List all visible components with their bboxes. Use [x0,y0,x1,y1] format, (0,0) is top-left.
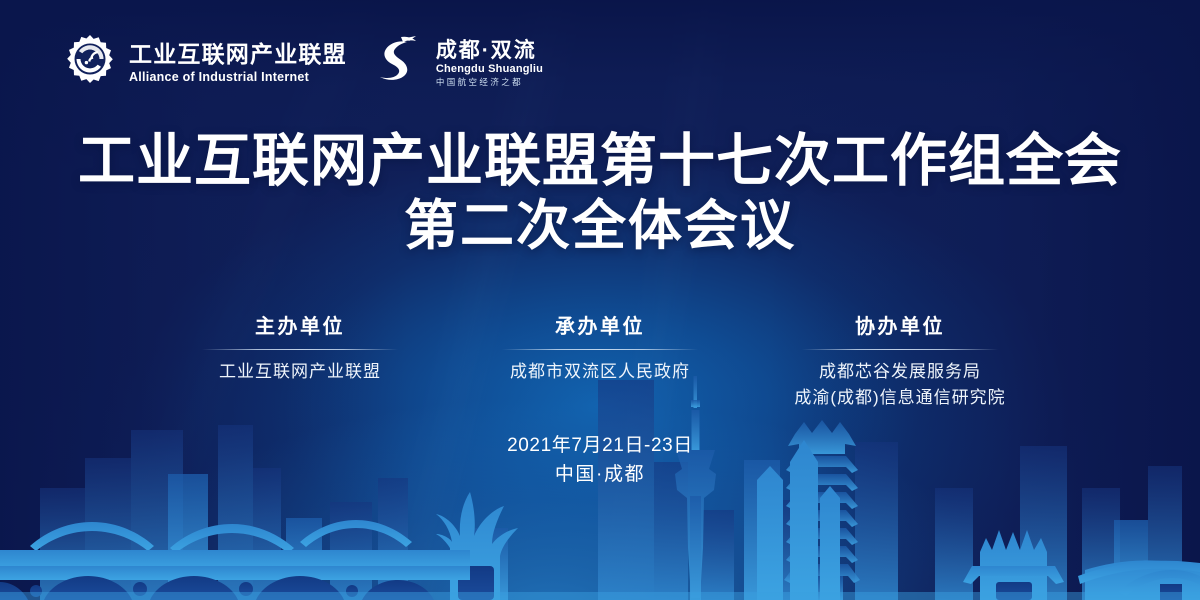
organizer-coorganizer-divider [502,349,698,350]
title-line-2: 第二次全体会议 [0,195,1200,259]
chengdu-shuangliu-logo-text: 成都·双流 Chengdu Shuangliu 中国航空经济之都 [436,39,543,88]
organizer-host-name-1: 工业互联网产业联盟 [158,359,442,385]
event-details: 2021年7月21日-23日 中国·成都 [0,432,1200,489]
organizer-supporter-name-1: 成都芯谷发展服务局 [758,359,1042,385]
title-line-1: 工业互联网产业联盟第十七次工作组全会 [0,128,1200,195]
organizer-host-divider [202,349,398,350]
chengdu-shuangliu-tagline: 中国航空经济之都 [436,77,543,88]
industrial-internet-gear-icon [62,33,118,94]
organizer-supporter-divider [802,349,998,350]
aii-logo: 工业互联网产业联盟 Alliance of Industrial Interne… [62,33,347,94]
logo-bar: 工业互联网产业联盟 Alliance of Industrial Interne… [62,33,543,94]
organizer-host: 主办单位 工业互联网产业联盟 [150,315,450,412]
chengdu-shuangliu-cn: 成都·双流 [436,39,543,62]
conference-banner: 工业互联网产业联盟 Alliance of Industrial Interne… [0,0,1200,600]
aii-logo-en: Alliance of Industrial Internet [129,70,347,86]
organizer-host-role: 主办单位 [158,315,442,340]
aii-logo-cn: 工业互联网产业联盟 [129,42,347,68]
organizer-supporter-name-2: 成渝(成都)信息通信研究院 [758,385,1042,411]
organizer-section: 主办单位 工业互联网产业联盟 承办单位 成都市双流区人民政府 协办单位 成都芯谷… [0,315,1200,412]
aii-logo-text: 工业互联网产业联盟 Alliance of Industrial Interne… [129,42,347,85]
event-location: 中国·成都 [0,461,1200,490]
event-date: 2021年7月21日-23日 [0,432,1200,461]
organizer-coorganizer: 承办单位 成都市双流区人民政府 [450,315,750,412]
chengdu-shuangliu-ribbon-plane-icon [373,33,425,94]
organizer-coorganizer-role: 承办单位 [458,315,742,340]
page-title: 工业互联网产业联盟第十七次工作组全会 第二次全体会议 [0,128,1200,259]
organizer-supporter-role: 协办单位 [758,315,1042,340]
chengdu-shuangliu-en: Chengdu Shuangliu [436,62,543,76]
chengdu-shuangliu-logo: 成都·双流 Chengdu Shuangliu 中国航空经济之都 [373,33,543,94]
organizer-coorganizer-name-1: 成都市双流区人民政府 [458,359,742,385]
organizer-supporter: 协办单位 成都芯谷发展服务局 成渝(成都)信息通信研究院 [750,315,1050,412]
